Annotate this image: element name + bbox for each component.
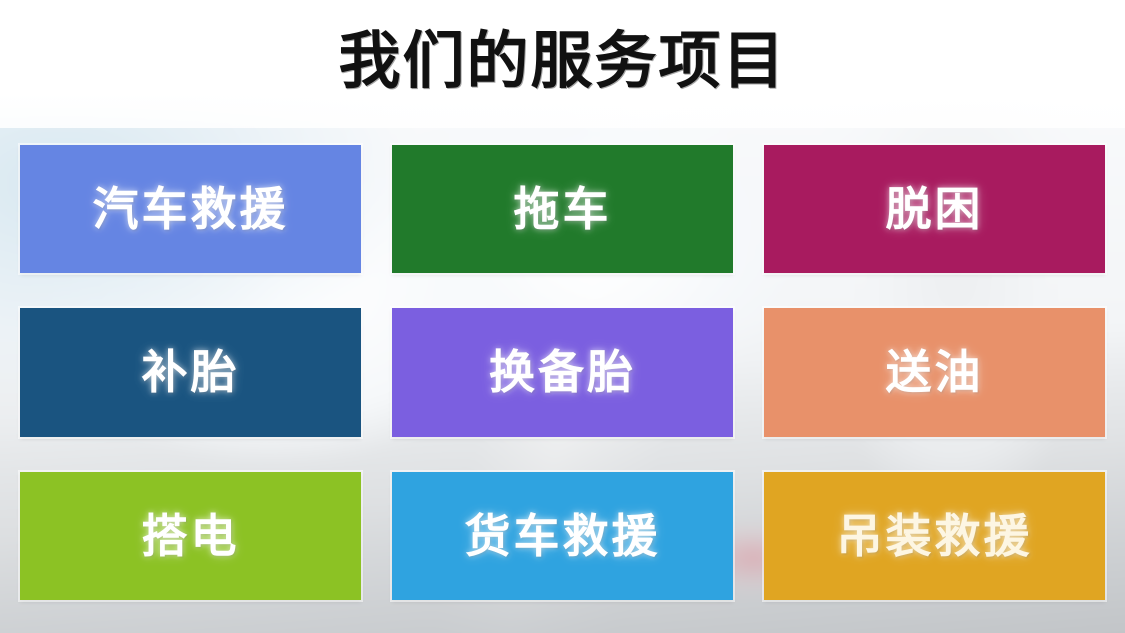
page-title: 我们的服务项目 (0, 24, 1125, 100)
service-tile-jump-start[interactable]: 搭电 (20, 472, 361, 600)
service-tile-label: 换备胎 (489, 346, 636, 398)
service-tile-tire-repair[interactable]: 补胎 (20, 308, 361, 436)
service-tile-label: 补胎 (142, 346, 240, 398)
service-tile-label: 吊装救援 (837, 510, 1033, 562)
service-tile-label: 送油 (886, 346, 984, 398)
service-tile-label: 货车救援 (465, 510, 661, 562)
service-tile-label: 汽车救援 (93, 183, 289, 235)
service-tile-hoisting-rescue[interactable]: 吊装救援 (764, 472, 1105, 600)
service-tile-label: 搭电 (142, 510, 240, 562)
service-tile-label: 拖车 (514, 183, 612, 235)
service-tile-tow-truck[interactable]: 拖车 (392, 145, 733, 273)
service-tile-car-rescue[interactable]: 汽车救援 (20, 145, 361, 273)
service-tile-label: 脱困 (886, 183, 984, 235)
service-tile-extrication[interactable]: 脱困 (764, 145, 1105, 273)
service-tile-grid: 汽车救援 拖车 脱困 补胎 换备胎 送油 搭电 货车救援 吊装救援 (20, 145, 1105, 600)
service-tile-spare-tire-change[interactable]: 换备胎 (392, 308, 733, 436)
service-poster: 我们的服务项目 汽车救援 拖车 脱困 补胎 换备胎 送油 搭电 货车救援 吊装救… (0, 0, 1125, 633)
service-tile-fuel-delivery[interactable]: 送油 (764, 308, 1105, 436)
service-tile-truck-rescue[interactable]: 货车救援 (392, 472, 733, 600)
